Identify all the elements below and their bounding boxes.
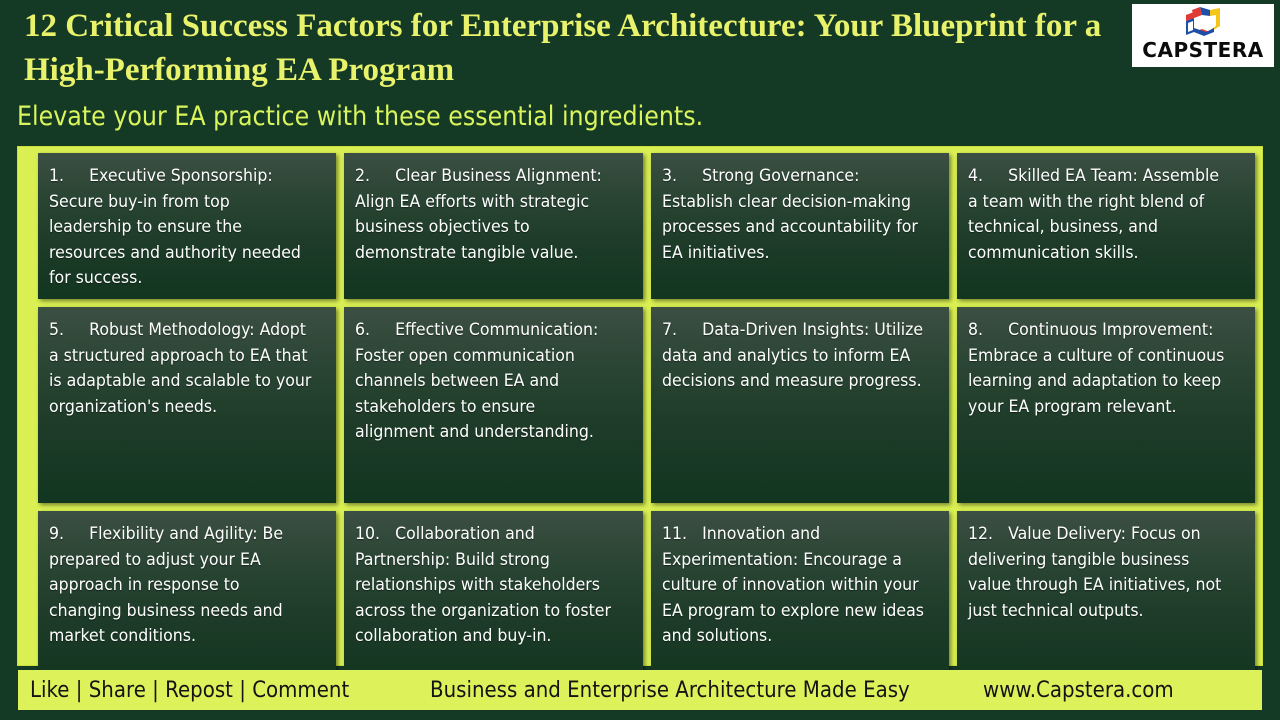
- footer-website-url[interactable]: www.Capstera.com: [983, 678, 1174, 703]
- footer-tagline: Business and Enterprise Architecture Mad…: [430, 678, 910, 703]
- factor-card-text: 6. Effective Communication: Foster open …: [355, 317, 620, 445]
- success-factors-grid: 1. Executive Sponsorship: Secure buy-in …: [19, 148, 1261, 664]
- capstera-logo: CAPSTERA: [1132, 4, 1274, 67]
- header: 12 Critical Success Factors for Enterpri…: [0, 0, 1280, 145]
- factor-card-4[interactable]: 4. Skilled EA Team: Assemble a team with…: [957, 153, 1255, 299]
- factor-card-6[interactable]: 6. Effective Communication: Foster open …: [344, 307, 642, 503]
- factor-card-2[interactable]: 2. Clear Business Alignment: Align EA ef…: [344, 153, 642, 299]
- factor-card-text: 7. Data-Driven Insights: Utilize data an…: [662, 317, 927, 394]
- factor-card-12[interactable]: 12. Value Delivery: Focus on delivering …: [957, 511, 1255, 685]
- footer-bar: Like | Share | Repost | Comment Business…: [18, 670, 1262, 710]
- factor-card-text: 2. Clear Business Alignment: Align EA ef…: [355, 163, 620, 265]
- factor-card-3[interactable]: 3. Strong Governance: Establish clear de…: [651, 153, 949, 299]
- factor-card-11[interactable]: 11. Innovation and Experimentation: Enco…: [651, 511, 949, 685]
- factor-card-text: 10. Collaboration and Partnership: Build…: [355, 521, 620, 649]
- capstera-wordmark: CAPSTERA: [1142, 39, 1263, 61]
- factor-card-8[interactable]: 8. Continuous Improvement: Embrace a cul…: [957, 307, 1255, 503]
- factor-card-text: 9. Flexibility and Agility: Be prepared …: [49, 521, 314, 649]
- factor-card-text: 5. Robust Methodology: Adopt a structure…: [49, 317, 314, 419]
- factor-card-text: 8. Continuous Improvement: Embrace a cul…: [968, 317, 1233, 419]
- page-title: 12 Critical Success Factors for Enterpri…: [24, 4, 1114, 92]
- factor-card-9[interactable]: 9. Flexibility and Agility: Be prepared …: [38, 511, 336, 685]
- page-subtitle: Elevate your EA practice with these esse…: [17, 100, 985, 133]
- factor-card-text: 12. Value Delivery: Focus on delivering …: [968, 521, 1233, 623]
- factor-card-10[interactable]: 10. Collaboration and Partnership: Build…: [344, 511, 642, 685]
- factor-card-text: 1. Executive Sponsorship: Secure buy-in …: [49, 163, 314, 291]
- footer-social-actions[interactable]: Like | Share | Repost | Comment: [30, 678, 349, 703]
- slide-canvas: 12 Critical Success Factors for Enterpri…: [0, 0, 1280, 720]
- factor-card-1[interactable]: 1. Executive Sponsorship: Secure buy-in …: [38, 153, 336, 299]
- factor-card-7[interactable]: 7. Data-Driven Insights: Utilize data an…: [651, 307, 949, 503]
- factor-card-text: 3. Strong Governance: Establish clear de…: [662, 163, 927, 265]
- capstera-cube-icon: [1180, 6, 1226, 38]
- factor-card-text: 4. Skilled EA Team: Assemble a team with…: [968, 163, 1233, 265]
- factor-card-5[interactable]: 5. Robust Methodology: Adopt a structure…: [38, 307, 336, 503]
- factor-card-text: 11. Innovation and Experimentation: Enco…: [662, 521, 927, 649]
